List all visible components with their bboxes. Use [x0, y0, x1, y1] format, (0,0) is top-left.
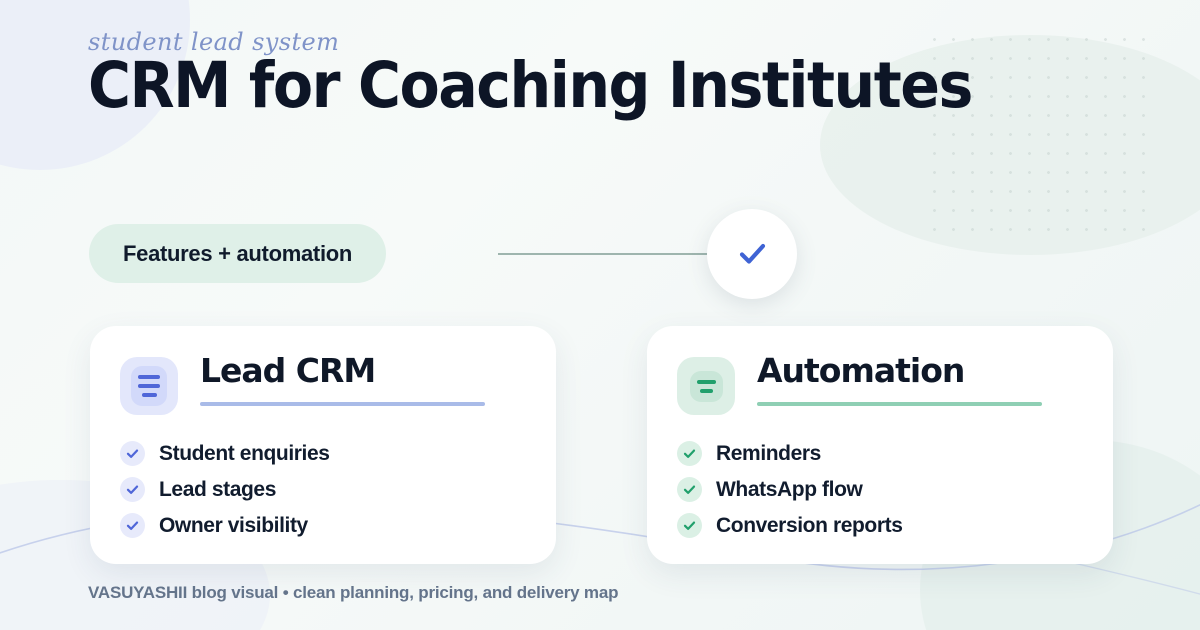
card-title: Automation — [757, 354, 1083, 389]
card-title: Lead CRM — [200, 354, 526, 389]
list-item-label: Owner visibility — [159, 514, 308, 538]
card-header: Automation — [677, 354, 1083, 415]
check-icon — [120, 477, 145, 502]
features-pill[interactable]: Features + automation — [89, 224, 386, 283]
check-icon — [732, 234, 772, 274]
list-item-label: Student enquiries — [159, 442, 330, 466]
list-item: Reminders — [677, 441, 1083, 466]
list-item-label: Reminders — [716, 442, 821, 466]
footer-caption: VASUYASHII blog visual • clean planning,… — [88, 583, 618, 603]
features-pill-label: Features + automation — [123, 241, 352, 267]
check-icon — [677, 441, 702, 466]
check-icon — [120, 513, 145, 538]
feature-list: Student enquiries Lead stages Owner visi… — [120, 441, 526, 538]
two-lines-icon — [677, 357, 735, 415]
card-automation[interactable]: Automation Reminders WhatsApp flow — [647, 326, 1113, 564]
list-item-label: Lead stages — [159, 478, 276, 502]
feature-list: Reminders WhatsApp flow Conversion repor… — [677, 441, 1083, 538]
connector-line — [498, 253, 713, 255]
check-circle-node[interactable] — [707, 209, 797, 299]
list-lines-icon — [120, 357, 178, 415]
list-item: WhatsApp flow — [677, 477, 1083, 502]
list-item-label: WhatsApp flow — [716, 478, 862, 502]
poster-canvas: student lead system CRM for Coaching Ins… — [0, 0, 1200, 630]
list-item: Lead stages — [120, 477, 526, 502]
page-title: CRM for Coaching Institutes — [88, 52, 972, 120]
check-icon — [120, 441, 145, 466]
card-title-underline — [757, 402, 1042, 406]
card-header: Lead CRM — [120, 354, 526, 415]
list-item: Conversion reports — [677, 513, 1083, 538]
card-lead-crm[interactable]: Lead CRM Student enquiries Lead stages — [90, 326, 556, 564]
check-icon — [677, 477, 702, 502]
list-item: Owner visibility — [120, 513, 526, 538]
list-item-label: Conversion reports — [716, 514, 903, 538]
card-title-underline — [200, 402, 485, 406]
check-icon — [677, 513, 702, 538]
list-item: Student enquiries — [120, 441, 526, 466]
